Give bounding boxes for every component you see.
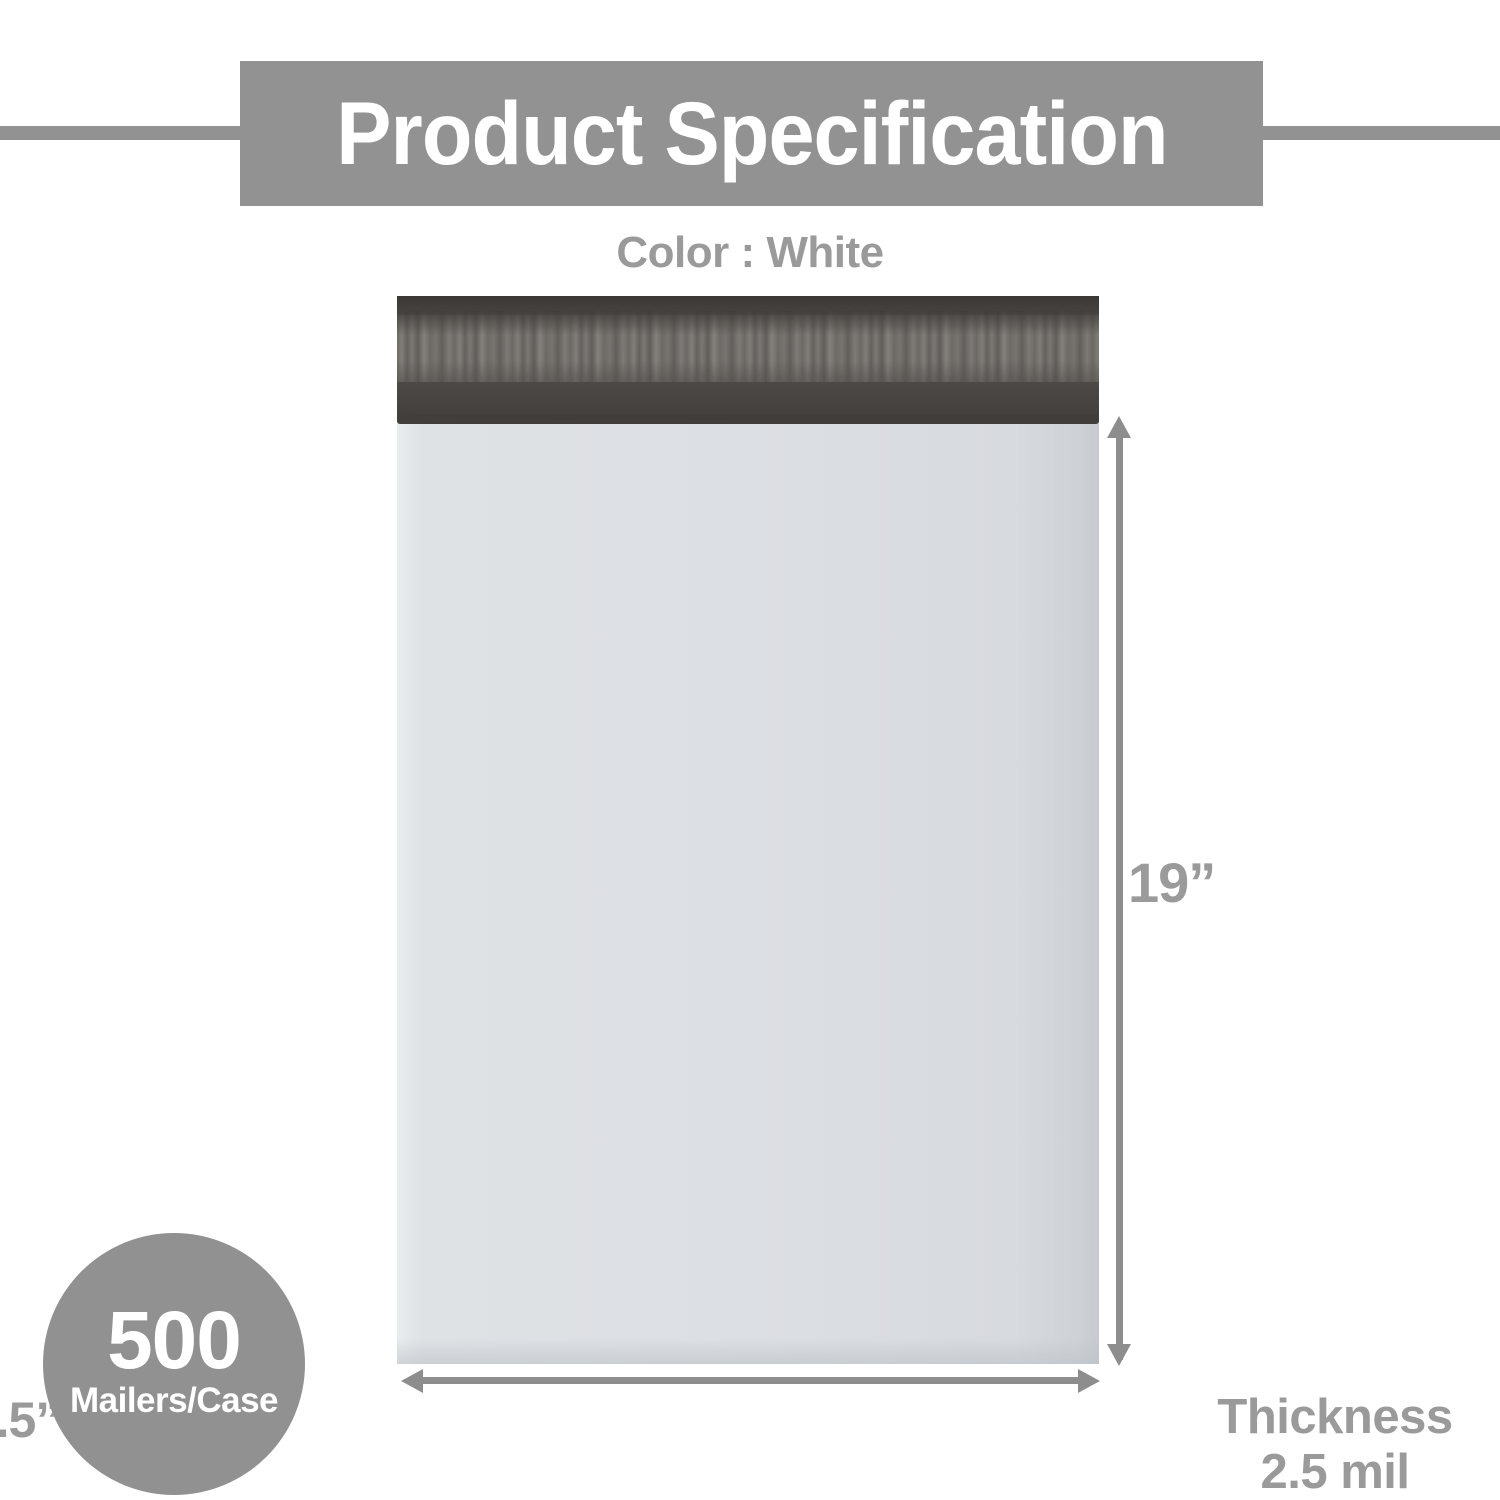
page-title: Product Specification <box>336 89 1167 178</box>
header-rule-right <box>1256 126 1500 140</box>
mailer-flap <box>397 296 1099 424</box>
title-banner: Product Specification <box>240 61 1263 206</box>
mailer-body <box>397 296 1099 1364</box>
flap-bottom-wave-icon <box>397 414 1099 428</box>
header-rule-left <box>0 126 246 140</box>
quantity-unit: Mailers/Case <box>70 1383 278 1418</box>
height-dimension-line <box>1116 428 1123 1360</box>
thickness-value: 2.5 mil <box>1180 1445 1490 1500</box>
height-dimension-label: 19” <box>1128 850 1215 915</box>
poly-mailer-image <box>397 296 1099 1364</box>
height-arrow-down-icon <box>1107 1344 1131 1366</box>
width-dimension-line <box>415 1377 1089 1384</box>
width-arrow-right-icon <box>1078 1369 1100 1393</box>
quantity-count: 500 <box>107 1302 241 1380</box>
color-spec-label: Color : White <box>0 228 1500 278</box>
height-arrow-up-icon <box>1107 416 1131 438</box>
thickness-label: Thickness <box>1180 1390 1490 1445</box>
flap-crinkle-texture <box>397 311 1099 391</box>
thickness-block: Thickness 2.5 mil <box>1180 1390 1490 1500</box>
quantity-badge: 500 Mailers/Case <box>43 1233 305 1495</box>
width-arrow-left-icon <box>401 1369 423 1393</box>
